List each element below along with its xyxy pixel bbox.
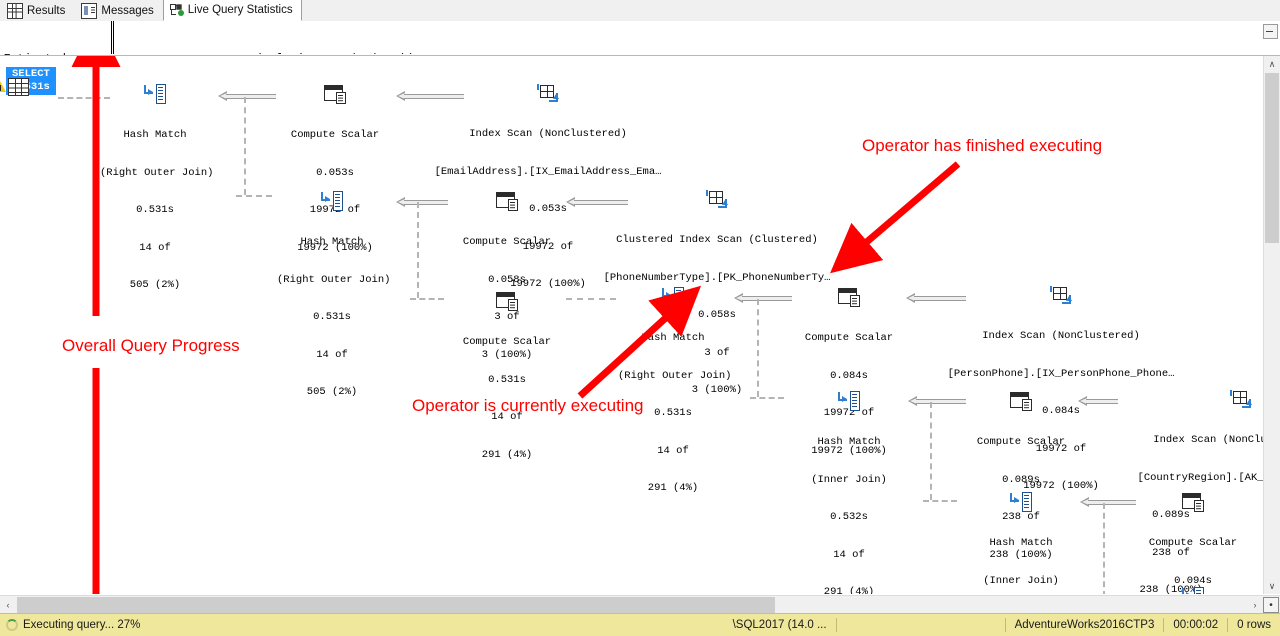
tab-messages-label: Messages	[101, 1, 153, 21]
compute-scalar-icon	[1182, 492, 1204, 512]
status-row-count: 0 rows	[1227, 618, 1280, 632]
operator-line: (Inner Join)	[966, 575, 1076, 588]
operator-line: 14 of	[277, 349, 387, 362]
operator-line: Clustered Index Scan (Clustered)	[586, 234, 848, 247]
operator-line: 0.531s	[452, 374, 562, 387]
scroll-corner: •	[1263, 596, 1280, 614]
hash-match-icon	[321, 191, 343, 211]
connector-dashed	[417, 202, 419, 298]
connector-dashed	[750, 397, 784, 399]
compute-scalar-icon	[496, 191, 518, 211]
operator-line: 0.531s	[277, 311, 387, 324]
spinner-icon	[6, 619, 18, 631]
results-pane-tabstrip: Results Messages Live Query Statistics	[0, 0, 1280, 22]
connector-dashed	[1103, 503, 1105, 594]
status-executing-text: Executing query... 27%	[23, 619, 140, 631]
operator-hash-match-4[interactable]: Hash Match (Inner Join) 0.532s 14 of 291…	[794, 366, 904, 594]
connector-dashed	[410, 298, 444, 300]
operator-line: Index Scan (NonClu	[1100, 434, 1264, 447]
operator-line: Hash Match	[277, 236, 387, 249]
connector-arrow	[218, 91, 276, 101]
operator-line: Hash Match	[794, 436, 904, 449]
annotation-arrow-executing	[560, 300, 690, 410]
connector-arrow	[1080, 497, 1136, 507]
scroll-left-button[interactable]: ‹	[0, 596, 16, 614]
operator-line: Index Scan (NonClustered)	[930, 330, 1192, 343]
scroll-right-button[interactable]: ›	[1247, 596, 1263, 614]
scroll-down-button[interactable]: ∨	[1264, 578, 1280, 594]
hash-match-icon	[1182, 587, 1204, 594]
annotation-operator-finished: Operator has finished executing	[862, 136, 1102, 156]
operator-hash-match-2[interactable]: Hash Match (Right Outer Join) 0.531s 14 …	[277, 166, 387, 424]
hash-match-icon	[144, 84, 166, 104]
compute-scalar-icon	[324, 84, 346, 104]
status-bar: Executing query... 27% \SQL2017 (14.0 ..…	[0, 613, 1280, 636]
status-server: \SQL2017 (14.0 ...	[724, 618, 836, 632]
operator-line: 291 (4%)	[452, 449, 562, 462]
connector-dashed	[244, 97, 246, 195]
operator-compute-scalar-3[interactable]: Compute Scalar 0.531s 14 of 291 (4%)	[452, 266, 562, 486]
grid-icon	[7, 3, 23, 19]
connector-dashed	[923, 500, 957, 502]
operator-line: Compute Scalar	[966, 436, 1076, 449]
operator-line: Index Scan (NonClustered)	[418, 128, 678, 141]
operator-line: Compute Scalar	[280, 129, 390, 142]
compute-scalar-icon	[1010, 391, 1032, 411]
operator-line: 14 of	[794, 549, 904, 562]
connector-arrow	[734, 293, 792, 303]
vertical-scrollbar[interactable]: ∧ ∨	[1263, 56, 1280, 594]
connector-dashed	[236, 195, 272, 197]
status-spacer	[836, 618, 1005, 632]
annotation-arrow-progress-down	[84, 368, 124, 594]
operator-line: 0.532s	[794, 511, 904, 524]
operator-line: Compute Scalar	[1138, 537, 1248, 550]
vertical-scroll-thumb[interactable]	[1265, 73, 1279, 243]
index-scan-icon	[1230, 389, 1252, 409]
plan-zoom-button[interactable]: •	[1263, 597, 1279, 613]
header-collapse-button[interactable]	[1263, 24, 1278, 39]
query-plan-header: Estimated query progress:27% Query 1: Qu…	[0, 21, 1280, 56]
index-scan-icon	[1050, 285, 1072, 305]
annotation-arrow-finished	[840, 156, 970, 266]
index-scan-icon	[706, 189, 728, 209]
connector-dashed	[757, 299, 759, 397]
tab-messages[interactable]: Messages	[74, 0, 162, 21]
status-database: AdventureWorks2016CTP3	[1005, 618, 1164, 632]
status-elapsed-time: 00:00:02	[1163, 618, 1227, 632]
tab-results[interactable]: Results	[0, 0, 74, 21]
horizontal-scrollbar[interactable]: ‹ › •	[0, 595, 1280, 614]
operator-hash-match-6[interactable]: Hash Match	[1138, 562, 1248, 594]
tab-live-query-statistics[interactable]: Live Query Statistics	[163, 0, 302, 21]
query-cost-line: Query 1: Query cost (relative to the bat…	[118, 52, 1264, 54]
hash-match-icon	[1010, 492, 1032, 512]
operator-line: Compute Scalar	[452, 236, 562, 249]
estimated-query-progress: Estimated query progress:27%	[0, 21, 112, 54]
operator-line: Compute Scalar	[794, 332, 904, 345]
tab-live-query-statistics-label: Live Query Statistics	[188, 0, 293, 20]
tab-results-label: Results	[27, 1, 65, 21]
compute-scalar-icon	[496, 291, 518, 311]
operator-line: Compute Scalar	[452, 336, 562, 349]
operator-hash-match-5[interactable]: Hash Match (Inner Join) 0.532s 14 of 291…	[966, 467, 1076, 594]
operator-line: 291 (4%)	[618, 482, 728, 495]
operator-line: 14 of	[618, 445, 728, 458]
connector-arrow	[396, 197, 448, 207]
connector-dashed	[930, 402, 932, 500]
select-node[interactable]: SELECT 0.531s	[6, 65, 54, 95]
operator-line: Hash Match	[966, 537, 1076, 550]
scroll-up-button[interactable]: ∧	[1264, 56, 1280, 72]
status-executing-group: Executing query... 27%	[0, 619, 140, 631]
compute-scalar-icon	[838, 287, 860, 307]
operator-line: (Inner Join)	[794, 474, 904, 487]
live-query-statistics-icon	[170, 3, 184, 17]
messages-icon	[81, 3, 97, 19]
operator-line: 505 (2%)	[277, 386, 387, 399]
hash-match-icon	[838, 391, 860, 411]
execution-plan-canvas[interactable]: SELECT 0.531s Hash Match (Right Outer Jo…	[0, 56, 1264, 594]
operator-line: 291 (4%)	[794, 586, 904, 594]
operator-line: (Right Outer Join)	[277, 274, 387, 287]
horizontal-scroll-thumb[interactable]	[17, 597, 775, 613]
status-right-group: \SQL2017 (14.0 ... AdventureWorks2016CTP…	[724, 618, 1280, 632]
index-scan-icon	[537, 83, 559, 103]
annotation-arrow-progress-up	[84, 56, 124, 346]
query-text: Query 1: Query cost (relative to the bat…	[114, 21, 1264, 54]
connector-arrow	[908, 396, 966, 406]
